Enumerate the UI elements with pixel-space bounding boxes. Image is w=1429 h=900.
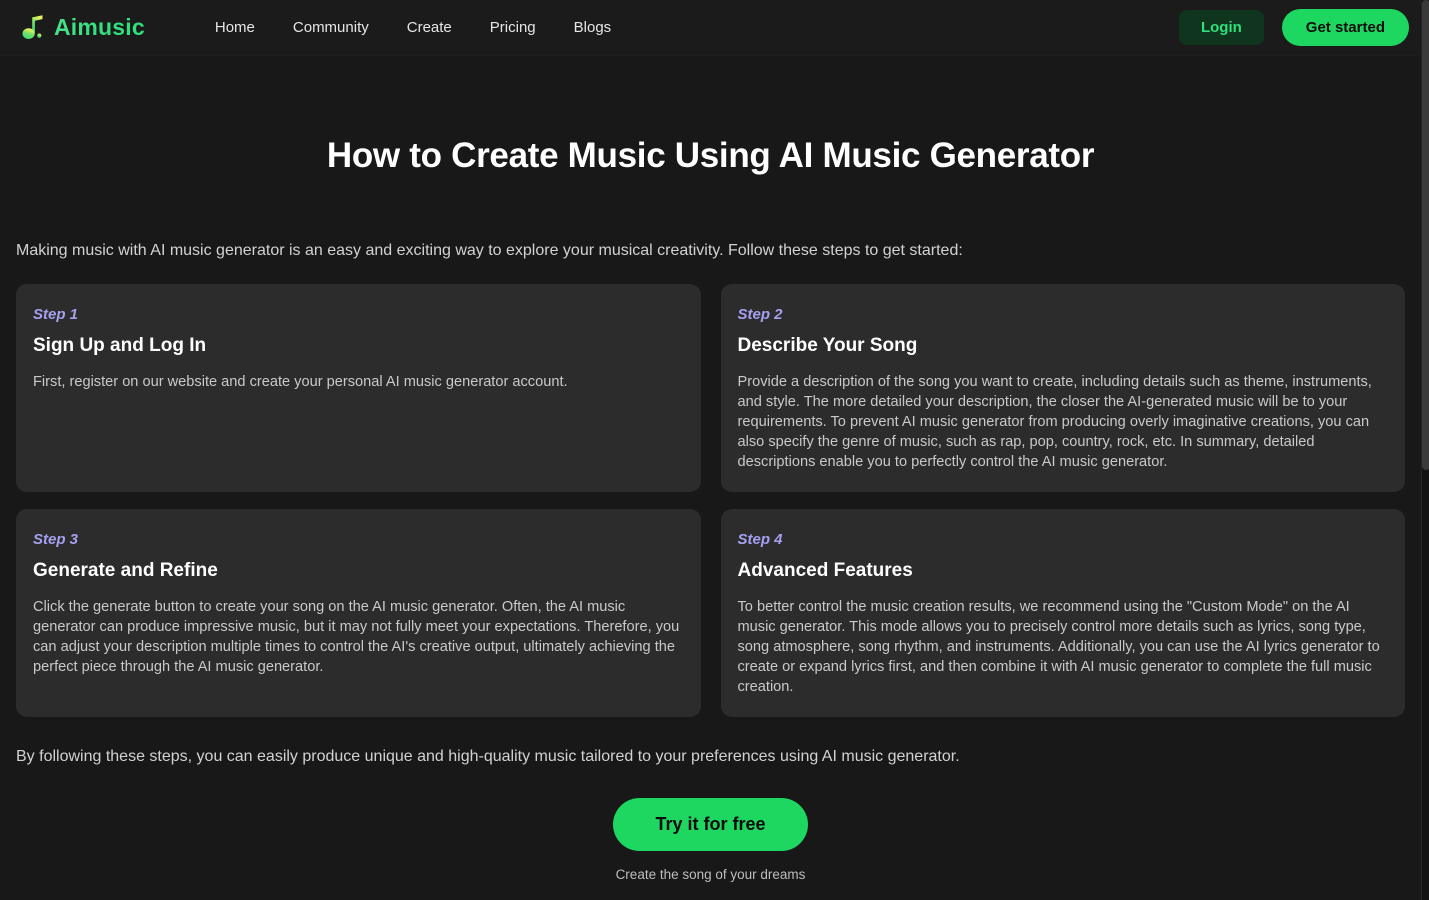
vertical-scrollbar-track[interactable] [1421, 0, 1429, 900]
main-navigation: Home Community Create Pricing Blogs [215, 19, 611, 36]
step-label: Step 2 [738, 306, 1388, 323]
intro-paragraph: Making music with AI music generator is … [16, 242, 1405, 260]
steps-grid: Step 1 Sign Up and Log In First, registe… [16, 284, 1405, 717]
step-card-3: Step 3 Generate and Refine Click the gen… [16, 509, 701, 717]
nav-item-home[interactable]: Home [215, 19, 255, 36]
nav-item-create[interactable]: Create [407, 19, 452, 36]
step-heading: Describe Your Song [738, 335, 1388, 357]
step-card-2: Step 2 Describe Your Song Provide a desc… [721, 284, 1406, 492]
music-note-icon [20, 14, 46, 42]
nav-item-pricing[interactable]: Pricing [490, 19, 536, 36]
site-header: Aimusic Home Community Create Pricing Bl… [0, 0, 1421, 56]
header-actions: Login Get started [1179, 9, 1409, 46]
step-label: Step 4 [738, 531, 1388, 548]
get-started-button[interactable]: Get started [1282, 9, 1409, 46]
step-label: Step 3 [33, 531, 683, 548]
login-button[interactable]: Login [1179, 10, 1264, 45]
cta-subtitle: Create the song of your dreams [616, 867, 806, 882]
page-title: How to Create Music Using AI Music Gener… [16, 136, 1405, 176]
cta-section: Try it for free Create the song of your … [16, 798, 1405, 882]
nav-item-community[interactable]: Community [293, 19, 369, 36]
step-heading: Advanced Features [738, 560, 1388, 582]
brand-logo[interactable]: Aimusic [20, 14, 145, 42]
nav-item-blogs[interactable]: Blogs [574, 19, 612, 36]
step-body: To better control the music creation res… [738, 597, 1388, 697]
vertical-scrollbar-thumb[interactable] [1422, 0, 1429, 470]
try-it-for-free-button[interactable]: Try it for free [613, 798, 807, 851]
step-body: First, register on our website and creat… [33, 372, 683, 392]
page-root: Aimusic Home Community Create Pricing Bl… [0, 0, 1429, 900]
step-body: Click the generate button to create your… [33, 597, 683, 677]
step-body: Provide a description of the song you wa… [738, 372, 1388, 472]
step-heading: Generate and Refine [33, 560, 683, 582]
step-card-1: Step 1 Sign Up and Log In First, registe… [16, 284, 701, 492]
main-content: How to Create Music Using AI Music Gener… [0, 56, 1421, 900]
brand-name: Aimusic [54, 14, 145, 41]
step-card-4: Step 4 Advanced Features To better contr… [721, 509, 1406, 717]
step-label: Step 1 [33, 306, 683, 323]
outro-paragraph: By following these steps, you can easily… [16, 748, 1405, 766]
step-heading: Sign Up and Log In [33, 335, 683, 357]
